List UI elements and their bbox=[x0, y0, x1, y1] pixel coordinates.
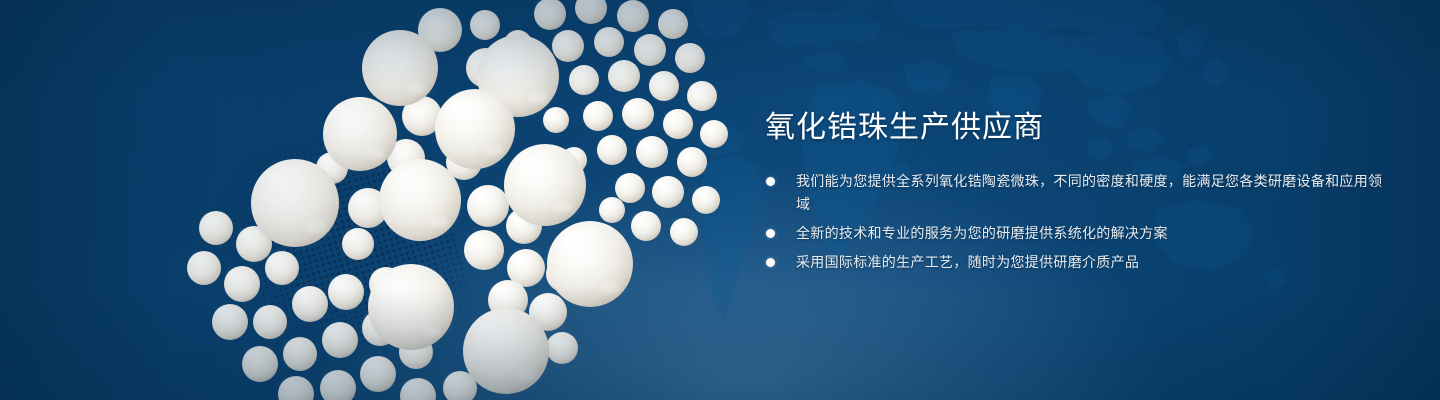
feature-list: 我们能为您提供全系列氧化锆陶瓷微珠，不同的密度和硬度，能满足您各类研磨设备和应用… bbox=[765, 170, 1385, 274]
list-item: 采用国际标准的生产工艺，随时为您提供研磨介质产品 bbox=[765, 251, 1385, 274]
list-item-label: 全新的技术和专业的服务为您的研磨提供系统化的解决方案 bbox=[796, 225, 1168, 241]
list-item: 我们能为您提供全系列氧化锆陶瓷微珠，不同的密度和硬度，能满足您各类研磨设备和应用… bbox=[765, 170, 1385, 216]
list-item-label: 我们能为您提供全系列氧化锆陶瓷微珠，不同的密度和硬度，能满足您各类研磨设备和应用… bbox=[796, 173, 1382, 212]
hero-banner: 氧化锆珠生产供应商 我们能为您提供全系列氧化锆陶瓷微珠，不同的密度和硬度，能满足… bbox=[0, 0, 1440, 400]
bullet-dot-icon bbox=[766, 229, 775, 238]
list-item: 全新的技术和专业的服务为您的研磨提供系统化的解决方案 bbox=[765, 222, 1385, 245]
bullet-dot-icon bbox=[766, 258, 775, 267]
banner-copy: 氧化锆珠生产供应商 我们能为您提供全系列氧化锆陶瓷微珠，不同的密度和硬度，能满足… bbox=[765, 108, 1385, 274]
list-item-label: 采用国际标准的生产工艺，随时为您提供研磨介质产品 bbox=[796, 254, 1139, 270]
bullet-dot-icon bbox=[766, 177, 775, 186]
page-title: 氧化锆珠生产供应商 bbox=[765, 108, 1385, 148]
